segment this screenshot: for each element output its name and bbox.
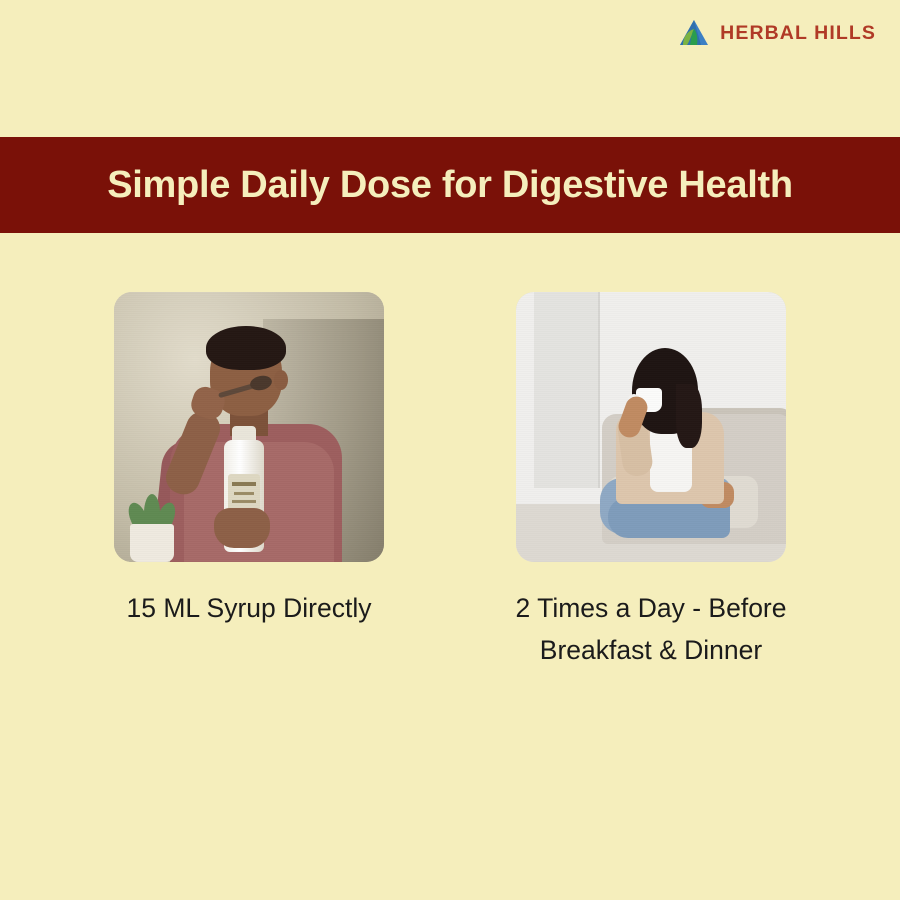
- dose-card-list: 15 ML Syrup Directly: [0, 292, 900, 672]
- poster-root: HERBAL HILLS Simple Daily Dose for Diges…: [0, 0, 900, 900]
- man-taking-syrup-spoon-photo: [114, 292, 384, 562]
- brand-logo: HERBAL HILLS: [677, 18, 876, 48]
- brand-name: HERBAL HILLS: [720, 22, 876, 45]
- page-title: Simple Daily Dose for Digestive Health: [107, 164, 792, 207]
- dose-card: 15 ML Syrup Directly: [114, 292, 384, 672]
- dose-caption: 2 Times a Day - Before Breakfast & Dinne…: [501, 588, 801, 672]
- dose-card: 2 Times a Day - Before Breakfast & Dinne…: [516, 292, 786, 672]
- dose-caption: 15 ML Syrup Directly: [99, 588, 399, 630]
- mountain-leaf-icon: [677, 18, 711, 48]
- woman-drinking-cup-sofa-photo: [516, 292, 786, 562]
- title-banner: Simple Daily Dose for Digestive Health: [0, 137, 900, 233]
